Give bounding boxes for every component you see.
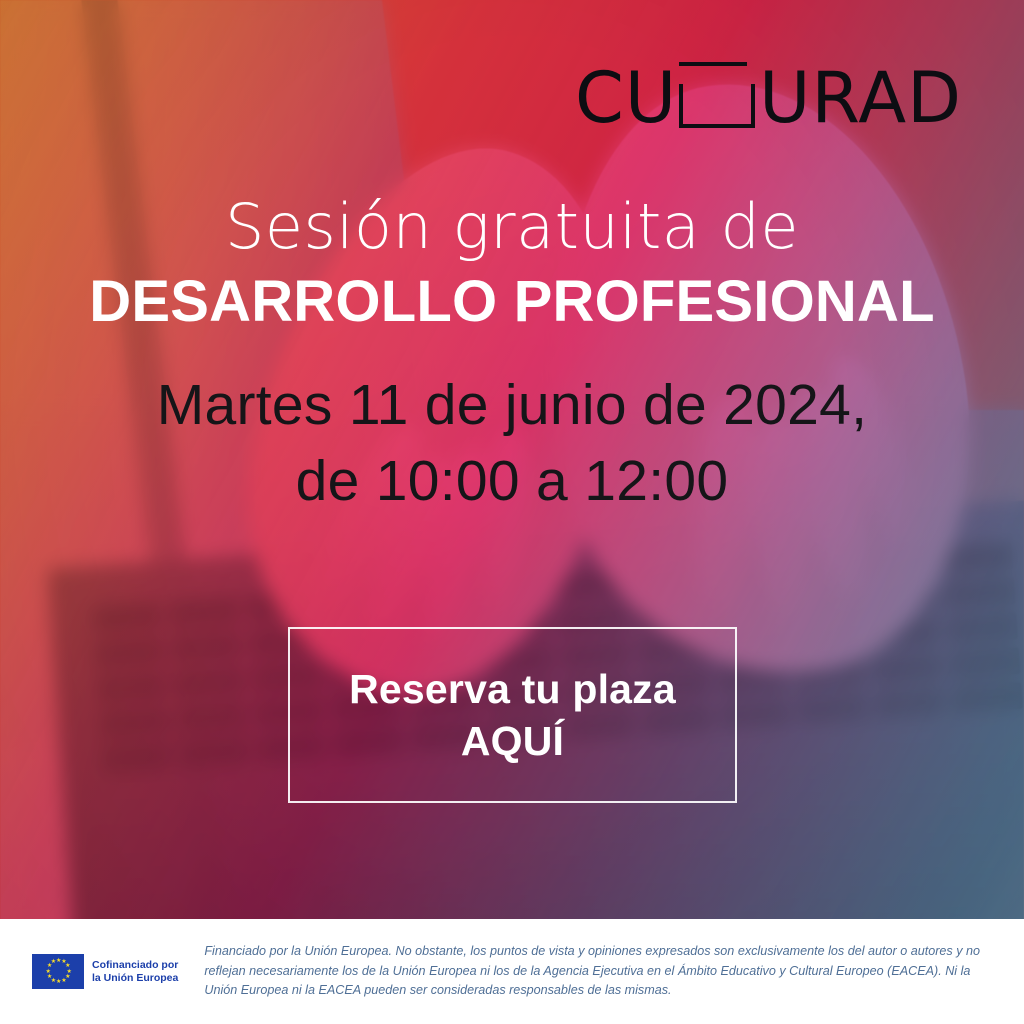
headline-title: DESARROLLO PROFESIONAL	[0, 269, 1024, 336]
eu-star-icon: ★	[46, 970, 50, 974]
eu-caption-line2: la Unión Europea	[92, 972, 178, 985]
eu-caption-line1: Cofinanciado por	[92, 959, 178, 972]
poster-content: CU URAD Sesión gratuita de DESARROLLO PR…	[0, 0, 1024, 1024]
eu-star-icon: ★	[56, 959, 60, 963]
logo-lt-ligature-icon	[679, 84, 755, 128]
eu-flag-icon: ★★★★★★★★★★★★	[32, 954, 84, 989]
event-time: de 10:00 a 12:00	[0, 444, 1024, 520]
eu-caption: Cofinanciado por la Unión Europea	[92, 959, 178, 985]
culturad-logo: CU URAD	[575, 62, 962, 134]
headline-subtitle: Sesión gratuita de	[0, 192, 1024, 261]
reserve-seat-button[interactable]: Reserva tu plaza AQUÍ	[288, 627, 737, 803]
eu-star-icon: ★	[67, 970, 71, 974]
promo-poster: CU URAD Sesión gratuita de DESARROLLO PR…	[0, 0, 1024, 1024]
logo-text-suffix: URAD	[759, 63, 962, 133]
eu-cofunding-logo: ★★★★★★★★★★★★ Cofinanciado por la Unión E…	[32, 954, 178, 989]
eu-star-icon: ★	[56, 980, 60, 984]
eu-star-icon: ★	[51, 960, 55, 964]
eu-star-icon: ★	[61, 979, 65, 983]
eu-star-icon: ★	[47, 975, 51, 979]
logo-text-prefix: CU	[575, 63, 677, 133]
eu-funding-footer: ★★★★★★★★★★★★ Cofinanciado por la Unión E…	[0, 919, 1024, 1024]
headline-block: Sesión gratuita de DESARROLLO PROFESIONA…	[0, 192, 1024, 336]
schedule-block: Martes 11 de junio de 2024, de 10:00 a 1…	[0, 368, 1024, 520]
cta-label-line1: Reserva tu plaza	[349, 663, 676, 715]
cta-label-line2: AQUÍ	[461, 715, 564, 767]
funding-disclaimer: Financiado por la Unión Europea. No obst…	[194, 942, 998, 1001]
event-date: Martes 11 de junio de 2024,	[0, 368, 1024, 444]
eu-star-icon: ★	[65, 964, 69, 968]
